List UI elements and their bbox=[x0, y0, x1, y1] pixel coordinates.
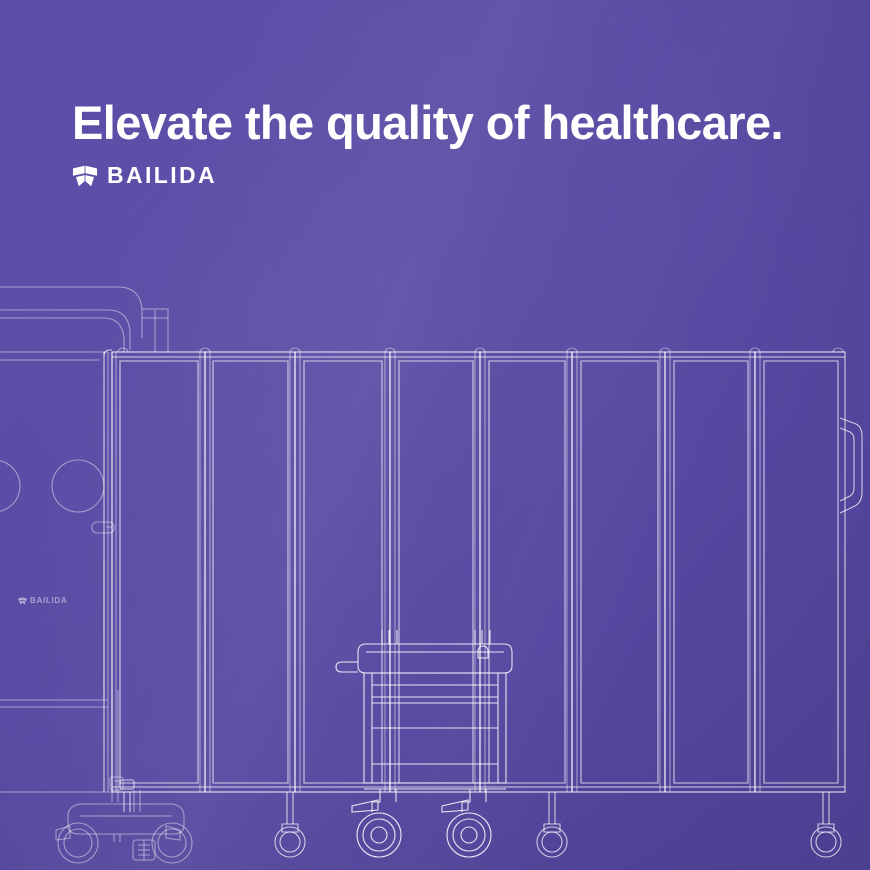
cabinet-brand-watermark: BAILIDA bbox=[18, 597, 67, 605]
banner-canvas: Elevate the quality of healthcare. BAILI… bbox=[0, 0, 870, 870]
chevron-leaf-logo-icon bbox=[18, 597, 27, 605]
headline-block: Elevate the quality of healthcare. BAILI… bbox=[72, 98, 783, 187]
brand-lockup: BAILIDA bbox=[72, 164, 783, 187]
chevron-leaf-logo-icon bbox=[72, 165, 98, 187]
brand-name: BAILIDA bbox=[107, 164, 217, 187]
watermark-brand-name: BAILIDA bbox=[30, 597, 67, 605]
page-title: Elevate the quality of healthcare. bbox=[72, 98, 783, 147]
